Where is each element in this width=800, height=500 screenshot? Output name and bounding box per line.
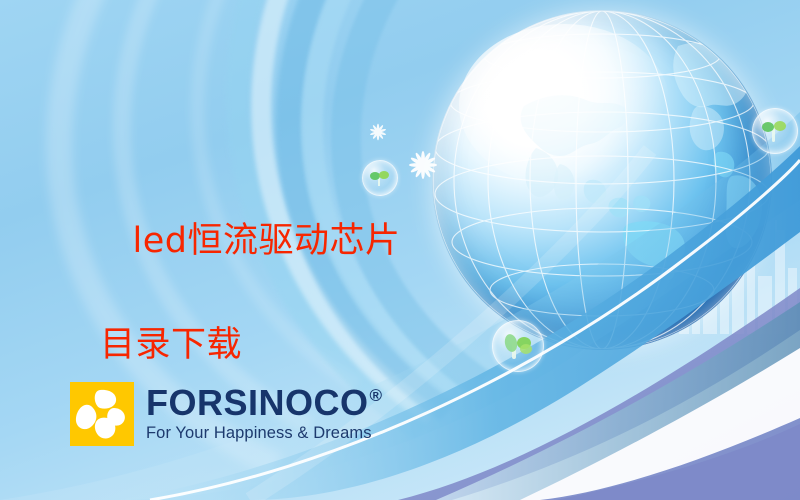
bubble-with-sprout-bottom bbox=[492, 320, 544, 372]
sprout-icon bbox=[493, 321, 543, 371]
bubble-with-sprout-right bbox=[752, 108, 798, 154]
headline-line-1: led恒流驱动芯片 bbox=[133, 221, 401, 261]
sprout-icon bbox=[753, 109, 797, 153]
poster-canvas: led恒流驱动芯片 目录下载 FORSINOCO ® For Your Happ… bbox=[0, 0, 800, 500]
pinwheel-petals-mark-icon bbox=[70, 382, 134, 446]
daisy-flower-small-icon bbox=[369, 123, 387, 141]
headline-line-2: 目录下载 bbox=[86, 319, 401, 371]
registered-trademark-icon: ® bbox=[370, 387, 383, 404]
brand-name: FORSINOCO bbox=[146, 385, 369, 421]
daisy-flower-large-icon bbox=[408, 150, 438, 180]
brand-wordmark: FORSINOCO ® bbox=[146, 385, 383, 421]
brand-tagline: For Your Happiness & Dreams bbox=[146, 423, 383, 443]
brand-text: FORSINOCO ® For Your Happiness & Dreams bbox=[146, 385, 383, 443]
brand-logo[interactable]: FORSINOCO ® For Your Happiness & Dreams bbox=[70, 382, 383, 446]
pinwheel-petals-svg bbox=[70, 382, 134, 446]
